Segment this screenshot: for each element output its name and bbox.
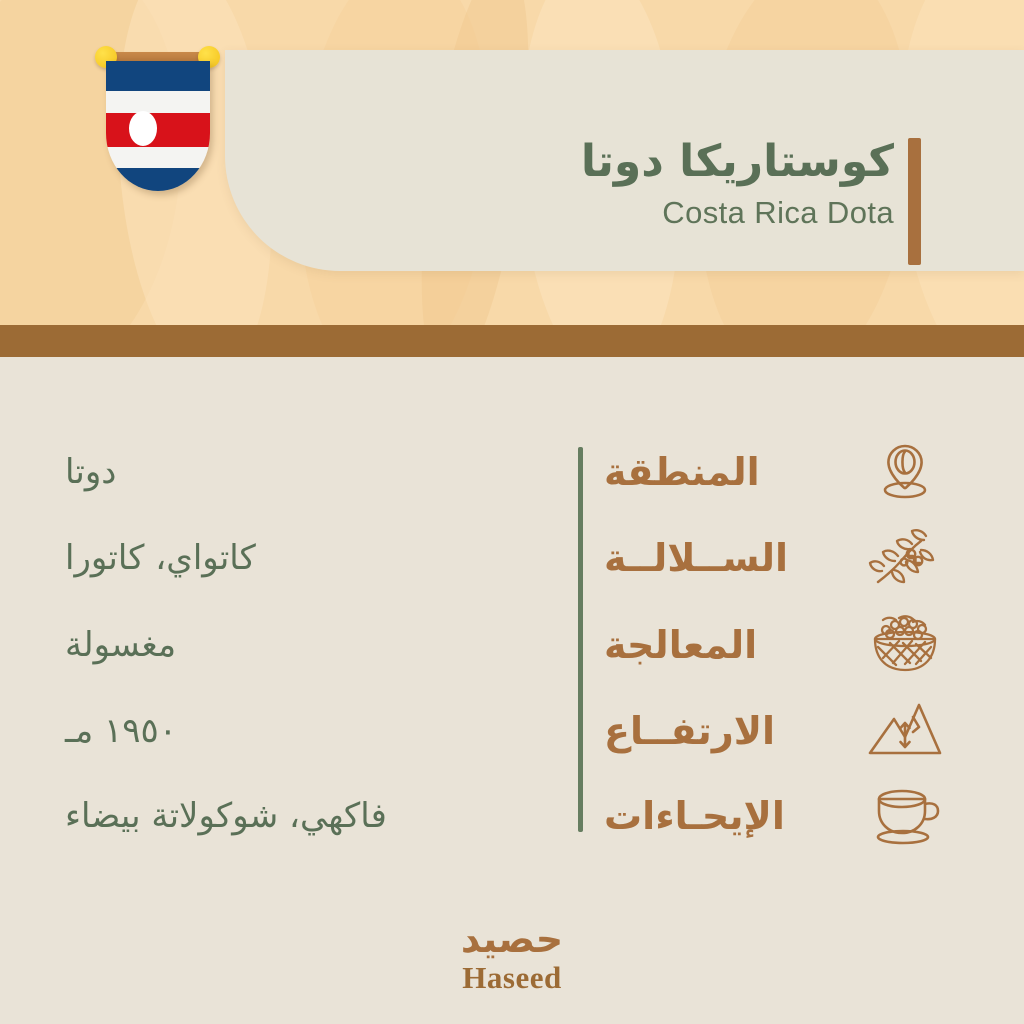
coffee-cup-icon bbox=[866, 783, 944, 849]
spec-label-region: المنطقة bbox=[604, 450, 844, 494]
costa-rica-flag-icon bbox=[106, 61, 210, 191]
flag-stripe bbox=[106, 168, 210, 191]
brand-logo-english: Haseed bbox=[0, 960, 1024, 996]
header-accent-bar bbox=[908, 138, 921, 265]
spec-row-variety: الســلالــة كاتواي، كاتورا bbox=[0, 515, 1024, 601]
spec-label-processing: المعالجة bbox=[604, 623, 844, 667]
spec-row-notes: الإيحـاءات فاكهي، شوكولاتة بيضاء bbox=[0, 773, 1024, 859]
header-text-block: كوستاريكا دوتا Costa Rica Dota bbox=[334, 134, 894, 231]
location-pin-coffee-bean-icon bbox=[866, 439, 944, 505]
flag-stripe bbox=[106, 113, 210, 147]
mountain-altitude-icon bbox=[866, 698, 944, 764]
coffee-branch-icon bbox=[866, 525, 944, 591]
brand-logo: حصيد Haseed bbox=[0, 920, 1024, 996]
page-title-english: Costa Rica Dota bbox=[334, 195, 894, 231]
section-divider-bar bbox=[0, 325, 1024, 357]
spec-row-region: المنطقة دوتا bbox=[0, 429, 1024, 515]
flag-stripe bbox=[106, 61, 210, 91]
country-flag-banner bbox=[95, 44, 220, 194]
spec-row-altitude: الارتفــاع ١٩٥٠ مـ bbox=[0, 688, 1024, 774]
page-title-arabic: كوستاريكا دوتا bbox=[334, 134, 894, 189]
brand-logo-arabic: حصيد bbox=[0, 920, 1024, 958]
coffee-cherry-basket-icon bbox=[866, 612, 944, 678]
spec-label-notes: الإيحـاءات bbox=[604, 794, 844, 838]
flag-stripe bbox=[106, 91, 210, 113]
coffee-specs-section: المنطقة دوتا الســلالــة كاتواي، كاتورا bbox=[0, 357, 1024, 887]
spec-value-processing: مغسولة bbox=[65, 625, 545, 665]
header-panel: كوستاريكا دوتا Costa Rica Dota bbox=[225, 50, 1024, 271]
spec-value-altitude: ١٩٥٠ مـ bbox=[65, 711, 545, 751]
flag-stripe bbox=[106, 147, 210, 168]
flag-emblem-disc bbox=[129, 111, 157, 146]
spec-value-region: دوتا bbox=[65, 452, 545, 492]
spec-row-processing: المعالجة مغسولة bbox=[0, 602, 1024, 688]
spec-value-variety: كاتواي، كاتورا bbox=[65, 538, 545, 578]
spec-label-altitude: الارتفــاع bbox=[604, 709, 844, 753]
spec-value-notes: فاكهي، شوكولاتة بيضاء bbox=[65, 796, 545, 836]
spec-label-variety: الســلالــة bbox=[604, 536, 844, 580]
